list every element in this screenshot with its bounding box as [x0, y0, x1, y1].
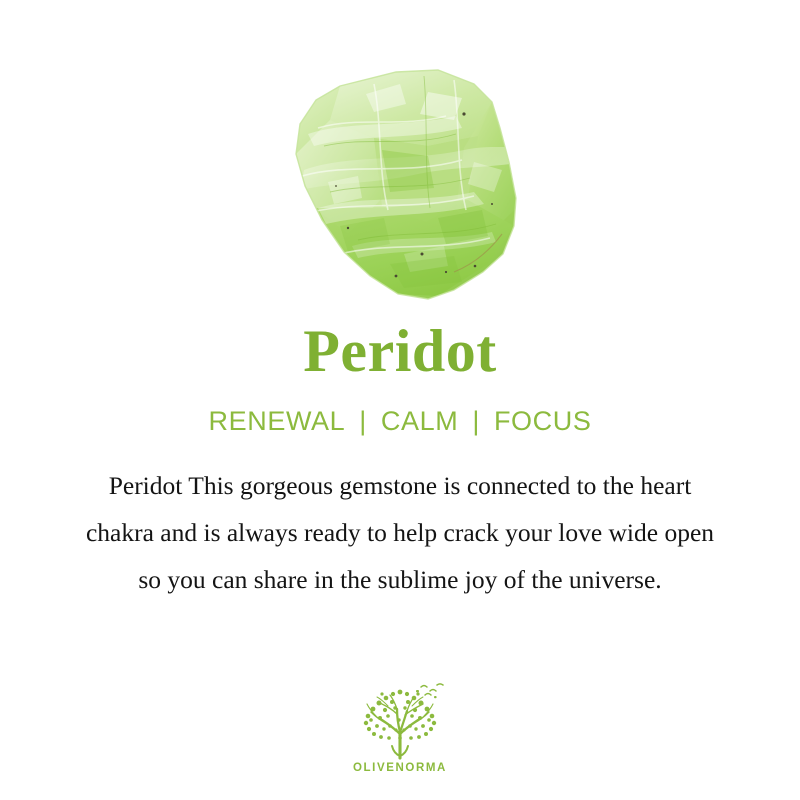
- olive-tree-icon: [352, 682, 448, 760]
- peridot-gemstone-image: [278, 58, 526, 303]
- description-line-1: Peridot This gorgeous gemstone is connec…: [20, 462, 780, 509]
- keyword-separator-2: |: [458, 406, 494, 437]
- description-line-2: chakra and is always ready to help crack…: [20, 509, 780, 556]
- keyword-separator-1: |: [345, 406, 381, 437]
- description-line-3: so you can share in the sublime joy of t…: [20, 556, 780, 603]
- keyword-renewal: RENEWAL: [209, 406, 346, 437]
- description-paragraph: Peridot This gorgeous gemstone is connec…: [20, 462, 780, 603]
- page-title: Peridot: [303, 320, 496, 382]
- brand-logo: OLIVENORMA: [340, 682, 460, 774]
- keyword-list: RENEWAL | CALM | FOCUS: [209, 404, 592, 438]
- keyword-focus: FOCUS: [494, 406, 592, 437]
- peridot-gemstone-graphic: [278, 58, 526, 303]
- peridot-info-card: Peridot RENEWAL | CALM | FOCUS Peridot T…: [0, 0, 800, 800]
- brand-wordmark: OLIVENORMA: [353, 762, 447, 774]
- keyword-calm: CALM: [381, 406, 458, 437]
- hero-image-area: [0, 0, 800, 320]
